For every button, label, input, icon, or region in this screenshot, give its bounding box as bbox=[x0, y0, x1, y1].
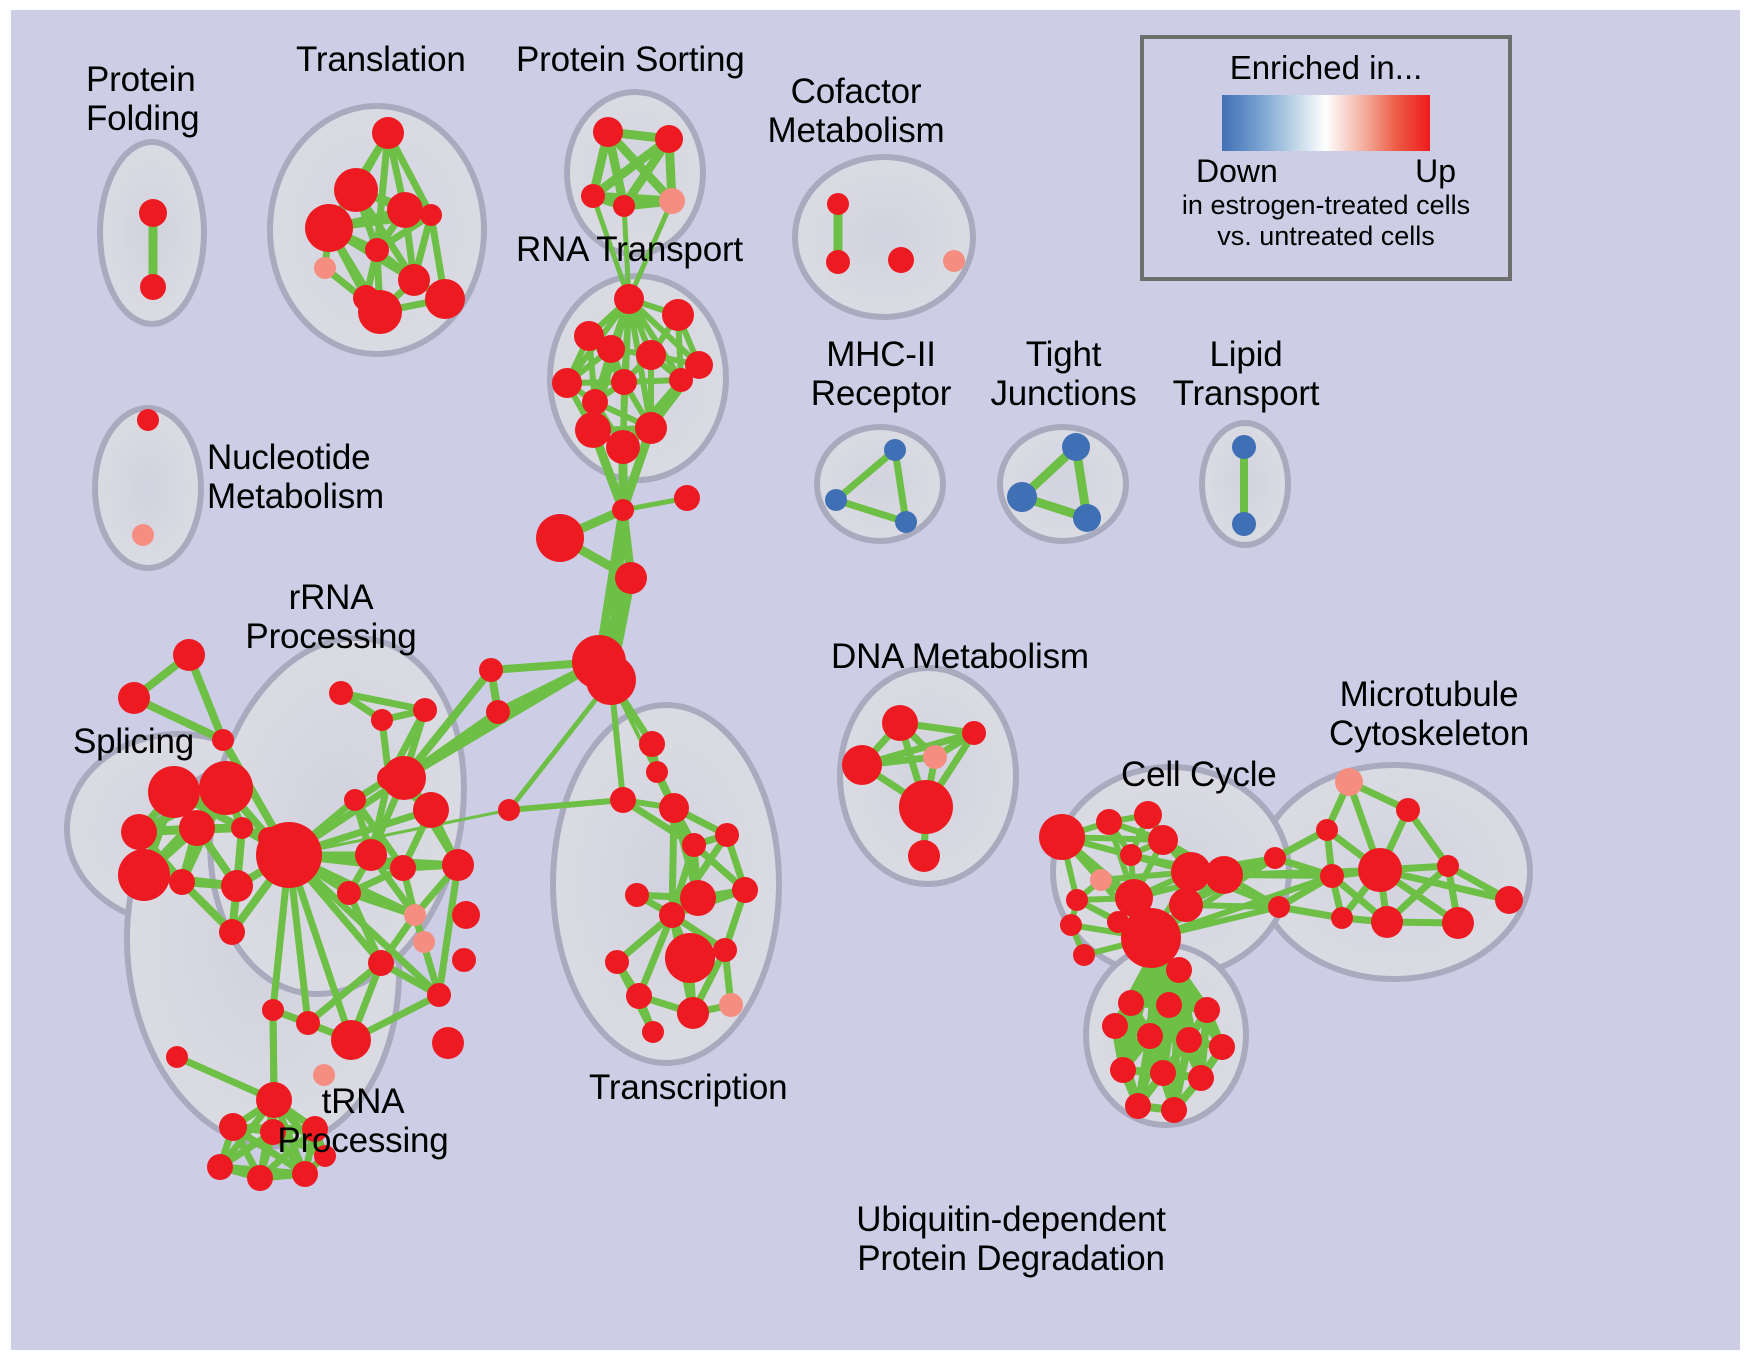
node bbox=[420, 204, 442, 226]
node bbox=[1169, 888, 1203, 922]
cluster-label-nucleotide-metabolism: Nucleotide Metabolism bbox=[207, 438, 384, 516]
cluster-label-trna-processing: tRNA Processing bbox=[263, 1082, 463, 1160]
node bbox=[1205, 856, 1243, 894]
node bbox=[597, 335, 625, 363]
cluster-label-mhc-ii-receptor: MHC-II Receptor bbox=[776, 335, 986, 413]
legend-caption-line1: in estrogen-treated cells bbox=[1182, 190, 1470, 221]
node bbox=[665, 933, 715, 983]
node bbox=[137, 409, 159, 431]
legend: Enriched in... Down Up in estrogen-treat… bbox=[1140, 35, 1512, 281]
node bbox=[292, 1161, 318, 1187]
node bbox=[179, 810, 215, 846]
node bbox=[659, 188, 685, 214]
node bbox=[1062, 433, 1090, 461]
node bbox=[659, 902, 685, 928]
node bbox=[329, 681, 353, 705]
node bbox=[1176, 1027, 1202, 1053]
node bbox=[382, 756, 426, 800]
node bbox=[635, 412, 667, 444]
node bbox=[365, 238, 389, 262]
legend-color-ramp bbox=[1222, 95, 1430, 151]
node bbox=[613, 195, 635, 217]
node bbox=[1358, 848, 1402, 892]
node bbox=[221, 870, 253, 902]
node bbox=[586, 655, 636, 705]
node bbox=[231, 817, 253, 839]
node bbox=[827, 193, 849, 215]
node bbox=[1039, 814, 1085, 860]
cluster-label-translation: Translation bbox=[296, 40, 466, 79]
node bbox=[1194, 997, 1220, 1023]
node bbox=[219, 919, 245, 945]
node bbox=[908, 840, 940, 872]
node bbox=[682, 833, 706, 857]
node bbox=[372, 117, 404, 149]
node bbox=[118, 682, 150, 714]
node bbox=[371, 709, 393, 731]
cluster-label-microtubule-cytoskeleton: Microtubule Cytoskeleton bbox=[1279, 675, 1579, 753]
node bbox=[552, 368, 582, 398]
node bbox=[404, 904, 426, 926]
node bbox=[659, 793, 689, 823]
node bbox=[1264, 847, 1286, 869]
node bbox=[715, 823, 739, 847]
node bbox=[413, 931, 435, 953]
node bbox=[140, 274, 166, 300]
node bbox=[199, 761, 253, 815]
node bbox=[358, 290, 402, 334]
hull-cofactor-metabolism bbox=[795, 157, 973, 317]
node bbox=[895, 511, 917, 533]
node bbox=[1007, 482, 1037, 512]
network-canvas: Protein Folding Translation Protein Sort… bbox=[11, 10, 1740, 1350]
node bbox=[132, 524, 154, 546]
node bbox=[334, 168, 378, 212]
node bbox=[305, 204, 353, 252]
hull-mhc-ii bbox=[817, 427, 943, 541]
node bbox=[452, 901, 480, 929]
node bbox=[610, 787, 636, 813]
node bbox=[344, 789, 366, 811]
node bbox=[212, 729, 234, 751]
legend-caption-line2: vs. untreated cells bbox=[1217, 221, 1435, 252]
cluster-label-cofactor-metabolism: Cofactor Metabolism bbox=[751, 72, 961, 150]
node bbox=[1096, 809, 1122, 835]
node bbox=[387, 192, 423, 228]
node bbox=[148, 766, 200, 818]
node bbox=[888, 247, 914, 273]
node bbox=[1232, 512, 1256, 536]
node bbox=[479, 658, 503, 682]
node bbox=[962, 721, 986, 745]
node bbox=[139, 199, 167, 227]
node bbox=[1125, 1093, 1151, 1119]
node bbox=[1437, 855, 1459, 877]
node bbox=[1102, 1013, 1128, 1039]
node bbox=[1396, 798, 1420, 822]
node bbox=[413, 792, 449, 828]
node bbox=[432, 1027, 464, 1059]
node bbox=[1209, 1034, 1235, 1060]
cluster-label-ubiquitin-degradation: Ubiquitin-dependent Protein Degradation bbox=[841, 1200, 1181, 1278]
cluster-label-protein-sorting: Protein Sorting bbox=[516, 40, 745, 79]
legend-down-label: Down bbox=[1196, 153, 1278, 190]
node bbox=[674, 485, 700, 511]
node bbox=[582, 389, 608, 415]
cluster-label-tight-junctions: Tight Junctions bbox=[961, 335, 1166, 413]
node bbox=[625, 883, 649, 907]
node bbox=[842, 745, 882, 785]
node bbox=[1150, 1060, 1176, 1086]
node bbox=[256, 822, 322, 888]
node bbox=[593, 117, 623, 147]
node bbox=[581, 184, 605, 208]
legend-direction-labels: Down Up bbox=[1196, 153, 1456, 190]
node bbox=[390, 855, 416, 881]
cluster-label-transcription: Transcription bbox=[589, 1068, 787, 1107]
node bbox=[636, 340, 666, 370]
node bbox=[1316, 819, 1338, 841]
node bbox=[207, 1154, 233, 1180]
node bbox=[1495, 886, 1523, 914]
node bbox=[719, 993, 743, 1017]
node bbox=[1090, 869, 1112, 891]
node bbox=[355, 839, 387, 871]
node bbox=[121, 814, 157, 850]
node bbox=[314, 257, 336, 279]
node bbox=[882, 705, 918, 741]
node bbox=[166, 1046, 188, 1068]
cluster-label-rrna-processing: rRNA Processing bbox=[226, 578, 436, 656]
node bbox=[442, 849, 474, 881]
node bbox=[1331, 907, 1353, 929]
cluster-label-cell-cycle: Cell Cycle bbox=[1121, 755, 1277, 794]
node bbox=[1066, 889, 1088, 911]
node bbox=[615, 562, 647, 594]
node bbox=[1137, 1023, 1163, 1049]
node bbox=[655, 125, 683, 153]
node bbox=[899, 780, 953, 834]
node bbox=[1188, 1065, 1214, 1091]
node bbox=[1171, 852, 1211, 892]
node bbox=[1110, 1057, 1136, 1083]
node bbox=[825, 489, 847, 511]
node bbox=[1144, 935, 1170, 961]
node bbox=[677, 997, 709, 1029]
node bbox=[826, 250, 850, 274]
node bbox=[923, 745, 947, 769]
node bbox=[1166, 957, 1192, 983]
cluster-label-protein-folding: Protein Folding bbox=[86, 60, 199, 138]
node bbox=[639, 731, 665, 757]
node bbox=[331, 1020, 371, 1060]
node bbox=[662, 299, 694, 331]
node bbox=[1320, 864, 1344, 888]
cluster-label-lipid-transport: Lipid Transport bbox=[1146, 335, 1346, 413]
node bbox=[486, 700, 510, 724]
node bbox=[1134, 801, 1162, 829]
node bbox=[1268, 896, 1290, 918]
node bbox=[1073, 944, 1095, 966]
node bbox=[669, 368, 693, 392]
node bbox=[612, 499, 634, 521]
node bbox=[118, 849, 170, 901]
node bbox=[1156, 992, 1182, 1018]
node bbox=[219, 1113, 247, 1141]
node bbox=[1232, 435, 1256, 459]
node bbox=[611, 369, 637, 395]
node bbox=[427, 983, 451, 1007]
node bbox=[1148, 825, 1178, 855]
figure-root: Protein Folding Translation Protein Sort… bbox=[0, 0, 1750, 1360]
legend-title: Enriched in... bbox=[1230, 49, 1423, 87]
node bbox=[732, 877, 758, 903]
node bbox=[173, 639, 205, 671]
node bbox=[605, 950, 629, 974]
node bbox=[296, 1011, 320, 1035]
node bbox=[1442, 907, 1474, 939]
node bbox=[642, 1021, 664, 1043]
node bbox=[413, 698, 437, 722]
node bbox=[614, 284, 644, 314]
cluster-label-rna-transport: RNA Transport bbox=[516, 230, 743, 269]
node bbox=[1060, 914, 1082, 936]
node bbox=[713, 938, 737, 962]
node bbox=[884, 439, 906, 461]
node bbox=[1073, 504, 1101, 532]
node bbox=[1371, 906, 1403, 938]
node bbox=[536, 514, 584, 562]
node bbox=[1120, 844, 1142, 866]
node bbox=[398, 264, 430, 296]
node bbox=[1118, 990, 1144, 1016]
node bbox=[247, 1165, 273, 1191]
node bbox=[626, 983, 652, 1009]
legend-up-label: Up bbox=[1415, 153, 1456, 190]
node bbox=[368, 950, 394, 976]
cluster-label-dna-metabolism: DNA Metabolism bbox=[831, 637, 1089, 676]
node bbox=[169, 869, 195, 895]
cluster-label-splicing: Splicing bbox=[73, 722, 194, 761]
node bbox=[680, 880, 716, 916]
node bbox=[262, 999, 284, 1021]
node bbox=[606, 430, 640, 464]
node bbox=[575, 412, 611, 448]
node bbox=[452, 948, 476, 972]
node bbox=[943, 250, 965, 272]
node bbox=[337, 881, 361, 905]
node bbox=[498, 799, 520, 821]
node bbox=[1161, 1097, 1187, 1123]
node bbox=[646, 761, 668, 783]
node bbox=[1335, 768, 1363, 796]
node bbox=[425, 279, 465, 319]
